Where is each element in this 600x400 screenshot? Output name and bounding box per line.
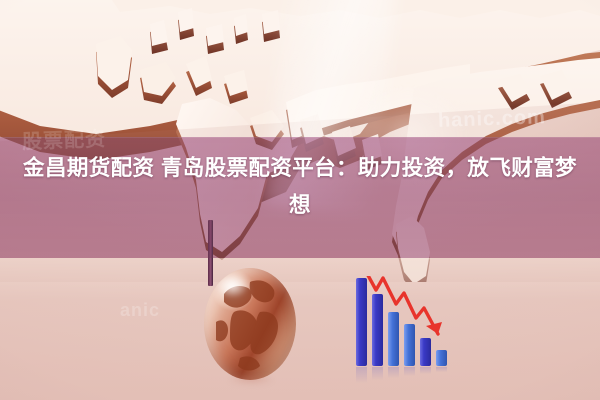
chart-bar-reflections xyxy=(356,367,447,383)
globe-sphere xyxy=(204,268,296,380)
declining-bar-chart xyxy=(352,276,460,386)
headline-band-edge xyxy=(0,137,600,138)
globe-highlight xyxy=(214,274,260,308)
globe-shadow xyxy=(216,376,286,400)
metallic-globe xyxy=(196,268,306,400)
page-title: 金昌期货配资 青岛股票配资平台：助力投资，放飞财富梦想 xyxy=(0,150,600,224)
banner-image: 股票配资 hanic.com anic 金昌期货配资 青岛股票配资平台：助力投资… xyxy=(0,0,600,400)
